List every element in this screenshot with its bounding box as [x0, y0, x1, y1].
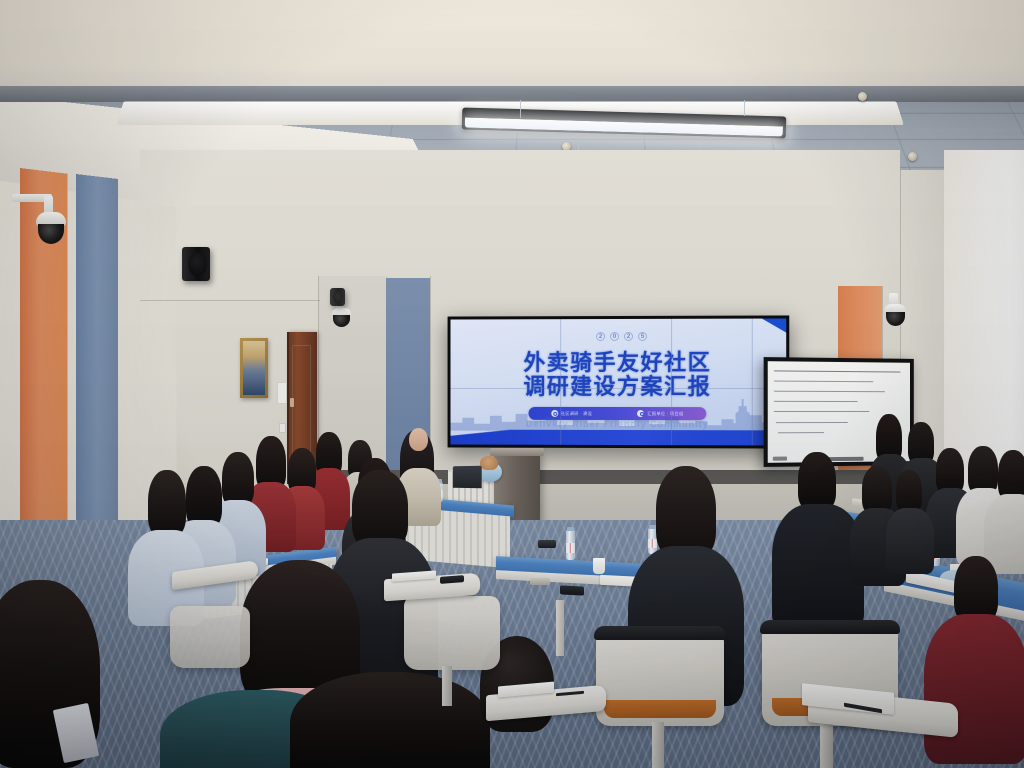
hair: [656, 466, 716, 558]
chair-pedestal: [820, 720, 833, 768]
ceiling-beam: [0, 86, 1024, 102]
year-digit: 2: [624, 332, 633, 341]
sprinkler-head: [858, 92, 867, 101]
chair-pedestal: [442, 666, 452, 706]
torso-sweater: [924, 614, 1024, 764]
hair: [954, 556, 998, 622]
bottle-label: [566, 543, 575, 553]
city-skyline-icon: [451, 397, 787, 432]
led-video-wall[interactable]: 2025 外卖骑手友好社区 调研建设方案汇报 社区调研 · 建设 汇报单位 · …: [448, 315, 790, 448]
wall-speaker: [182, 247, 210, 281]
artwork-canvas: [243, 341, 265, 395]
handwriting-line: [774, 411, 870, 412]
hair: [290, 672, 490, 768]
hair: [186, 466, 222, 528]
handwriting-line: [774, 391, 885, 393]
table-leg: [556, 600, 564, 656]
sprinkler-head: [908, 152, 917, 161]
desk-object: [538, 540, 556, 548]
videowall-panel-seam: [671, 319, 672, 445]
wall-seam: [140, 300, 320, 301]
meeting-chair[interactable]: [404, 596, 500, 670]
hair: [896, 470, 922, 512]
bottle-cap: [649, 525, 655, 529]
chair-headrest-trim: [760, 620, 900, 634]
decorative-object: [480, 456, 498, 470]
torso: [886, 508, 934, 574]
door-handle[interactable]: [290, 398, 294, 407]
speaker-cone-icon: [188, 252, 206, 275]
presentation-slide: 2025 外卖骑手友好社区 调研建设方案汇报 社区调研 · 建设 汇报单位 · …: [451, 318, 787, 445]
chair-wood-trim: [604, 700, 716, 718]
light-switch[interactable]: [279, 423, 286, 433]
hair: [352, 470, 408, 548]
hair: [148, 470, 186, 536]
lectern-top: [490, 448, 544, 456]
handwriting-line: [776, 422, 848, 423]
framed-artwork: [240, 338, 268, 398]
chair-pedestal: [652, 722, 664, 768]
water-bottle: [566, 530, 575, 560]
videowall-panel-seam: [560, 319, 561, 445]
slide-footer-band: [451, 430, 787, 446]
hair: [968, 446, 998, 494]
whiteboard-brand-logo: [773, 457, 787, 461]
wall-speaker: [330, 288, 345, 306]
videowall-panel-seam: [752, 319, 753, 446]
bottle-label: [648, 539, 657, 548]
handwriting-line: [774, 401, 858, 402]
light-suspension-wire: [744, 100, 745, 116]
year-digit: 5: [638, 332, 647, 341]
handwriting-line: [778, 432, 824, 433]
year-digit: 0: [610, 332, 619, 341]
hair: [998, 450, 1024, 500]
handwriting-line: [774, 370, 901, 373]
videowall-panel-seam: [451, 388, 787, 389]
hair: [222, 452, 254, 506]
year-digit: 2: [596, 332, 605, 341]
photo-scene: 2025 外卖骑手友好社区 调研建设方案汇报 社区调研 · 建设 汇报单位 · …: [0, 0, 1024, 768]
desk-object: [530, 578, 550, 585]
handwriting-line: [774, 381, 873, 383]
speaker-cone-icon: [333, 291, 343, 303]
bottle-cap: [567, 527, 573, 531]
smartphone[interactable]: [560, 585, 584, 595]
door-panel: [292, 345, 311, 465]
slide-year-label: 2025: [451, 331, 787, 342]
hair: [862, 466, 892, 514]
paper-cup: [593, 558, 605, 574]
hair: [798, 452, 836, 510]
head: [409, 428, 428, 451]
chair-headrest-trim: [594, 626, 726, 640]
laptop[interactable]: [453, 466, 482, 488]
wall-notice-sign: [277, 382, 287, 404]
light-suspension-wire: [520, 100, 521, 118]
meeting-chair[interactable]: [170, 606, 250, 668]
